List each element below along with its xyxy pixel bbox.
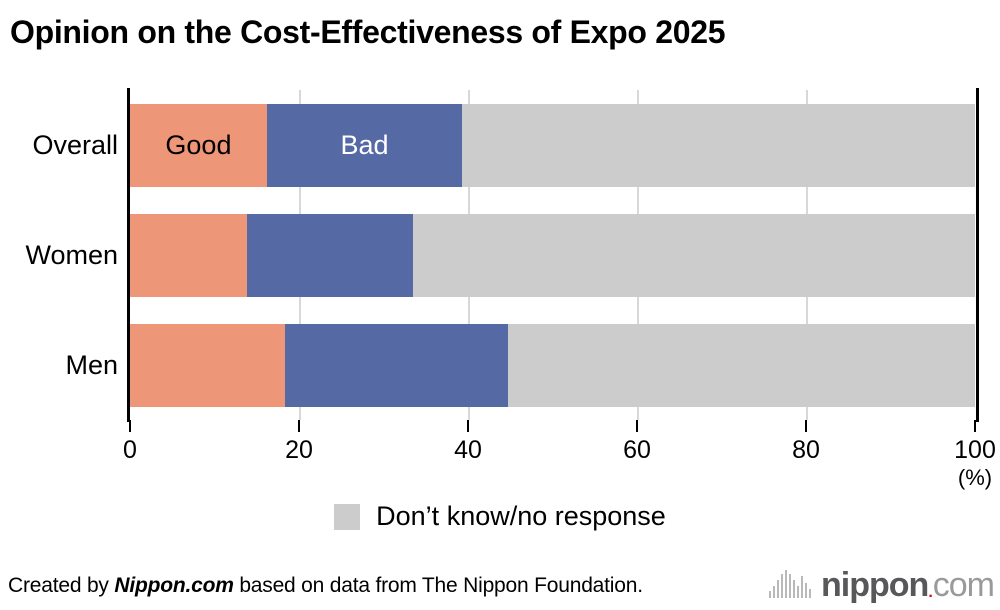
logo-tld: com	[933, 568, 994, 602]
bar-segment-bad[interactable]: Bad	[267, 104, 462, 187]
x-axis-tick-label: 100	[954, 436, 996, 464]
x-axis-tick	[805, 420, 807, 432]
footer-credit-prefix: Created by	[8, 574, 114, 597]
right-axis-line	[976, 88, 979, 422]
chart-legend: Don’t know/no response	[0, 503, 1000, 530]
bar-row	[130, 324, 975, 407]
bar-row: GoodBad	[130, 104, 975, 187]
footer: Created by Nippon.com based on data from…	[0, 564, 1000, 602]
bar-segment-bad[interactable]	[247, 214, 413, 297]
bar-inline-label-bad: Bad	[267, 132, 462, 159]
bar-segment-good[interactable]	[130, 214, 247, 297]
bar-row	[130, 214, 975, 297]
nippon-com-logo[interactable]: nippon.com	[769, 568, 994, 602]
x-axis-unit-label: (%)	[958, 466, 992, 490]
x-axis-tick	[636, 420, 638, 432]
page-title: Opinion on the Cost-Effectiveness of Exp…	[10, 10, 970, 54]
bar-stack	[130, 214, 975, 297]
bar-segment-dont-know[interactable]	[462, 104, 975, 187]
footer-credit-text: Created by Nippon.com based on data from…	[8, 574, 643, 598]
x-axis-tick	[129, 420, 131, 432]
footer-credit-brand: Nippon.com	[114, 574, 233, 597]
x-axis-tick-label: 20	[285, 436, 313, 464]
bar-stack	[130, 324, 975, 407]
bar-segment-bad[interactable]	[285, 324, 508, 407]
bar-segment-good[interactable]	[130, 324, 285, 407]
x-axis-tick-label: 80	[792, 436, 820, 464]
x-axis-tick	[467, 420, 469, 432]
y-axis-label-overall: Overall	[0, 132, 118, 159]
bar-segment-dont-know[interactable]	[508, 324, 975, 407]
legend-item-dont-know[interactable]: Don’t know/no response	[334, 503, 666, 530]
legend-swatch-dont-know	[334, 504, 360, 530]
logo-wordmark: nippon	[821, 568, 928, 602]
y-axis-label-women: Women	[0, 242, 118, 269]
legend-label-dont-know: Don’t know/no response	[376, 503, 666, 530]
chart-plot-area: GoodBad	[130, 90, 975, 420]
y-axis-line	[127, 88, 130, 422]
footer-credit-suffix: based on data from The Nippon Foundation…	[234, 574, 643, 597]
y-axis-label-men: Men	[0, 352, 118, 379]
barcode-mark-icon	[769, 568, 813, 598]
bar-inline-label-good: Good	[130, 132, 267, 159]
x-axis-tick-label: 40	[454, 436, 482, 464]
x-axis-tick	[298, 420, 300, 432]
x-axis-tick	[974, 420, 976, 432]
x-axis-tick-label: 60	[623, 436, 651, 464]
x-axis-tick-label: 0	[123, 436, 137, 464]
bar-segment-good[interactable]: Good	[130, 104, 267, 187]
bar-segment-dont-know[interactable]	[413, 214, 975, 297]
bar-stack: GoodBad	[130, 104, 975, 187]
